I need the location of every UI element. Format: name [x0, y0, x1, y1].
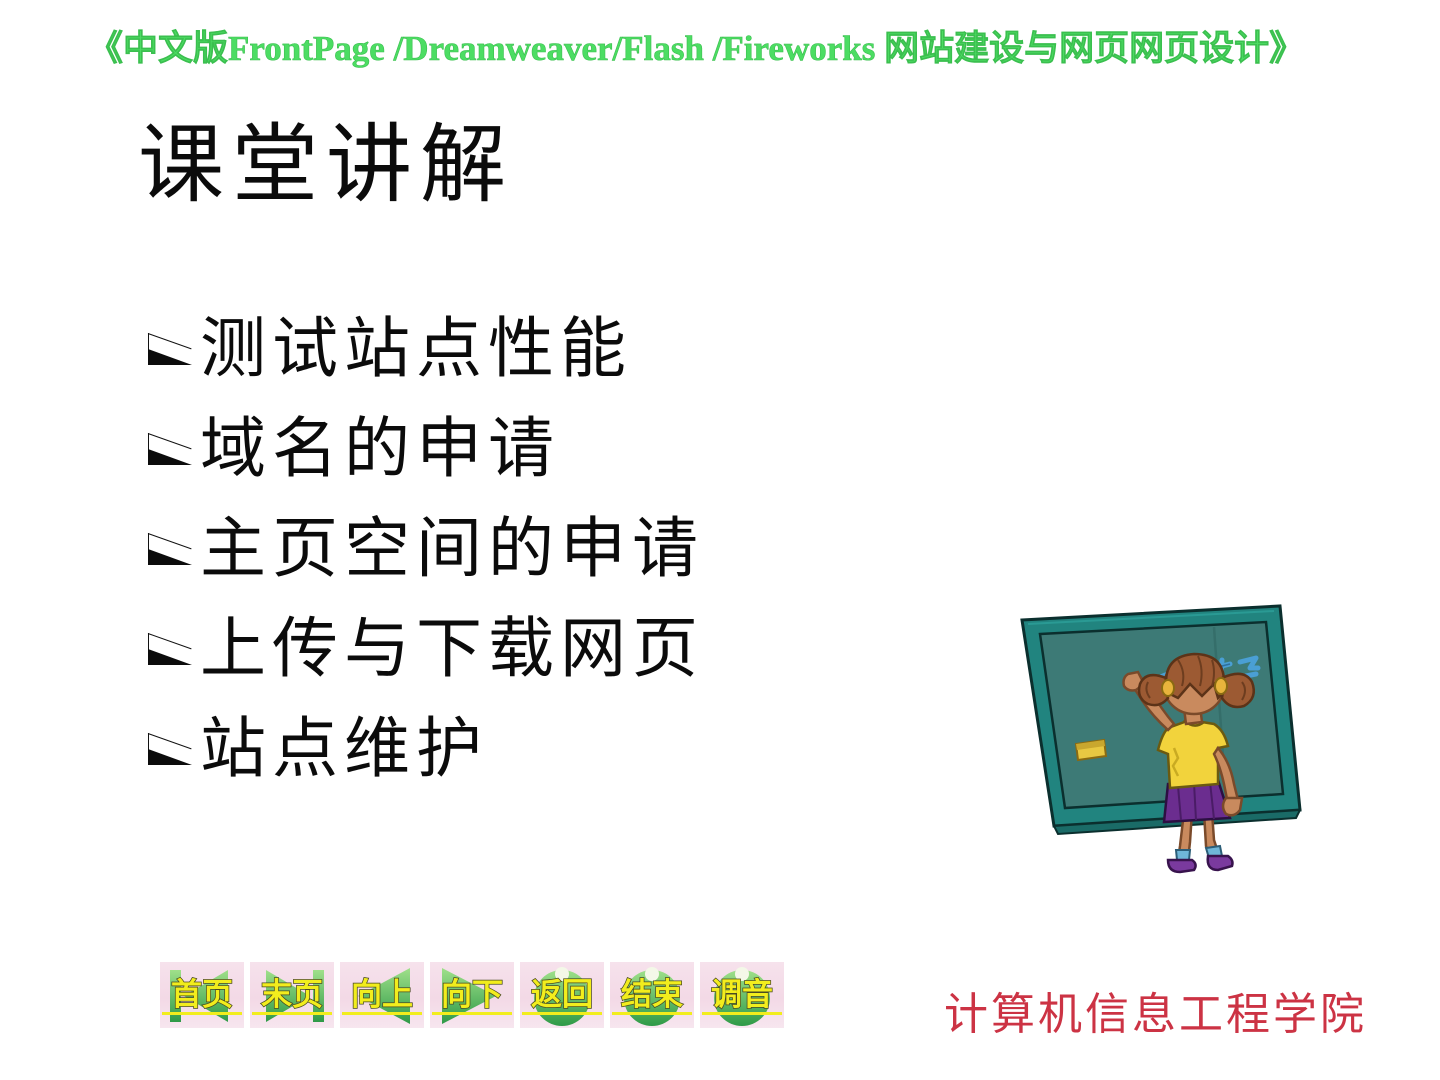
nav-underline [432, 1012, 512, 1015]
footer-navigation-bar[interactable]: 首页 末页 向上 向 [160, 962, 784, 1028]
bullet-list: 测试站点性能 域名的申请 主页空间的申请 上传与下载网页 站点维护 [146, 300, 906, 800]
nav-underline [702, 1012, 782, 1015]
list-item: 测试站点性能 [146, 300, 906, 400]
nav-button-label: 返回 [520, 978, 604, 1012]
nav-underline [252, 1012, 332, 1015]
nav-button-page-down[interactable]: 向下 [430, 962, 514, 1028]
institution-name: 计算机信息工程学院 [944, 988, 1367, 1042]
nav-button-label: 结束 [610, 978, 694, 1012]
list-item: 上传与下载网页 [146, 600, 906, 700]
nav-button-label: 向上 [340, 978, 424, 1012]
slide-header-title: 《中文版FrontPage /Dreamweaver/Flash /Firewo… [88, 26, 1358, 74]
arrow-bullet-icon [146, 419, 200, 481]
nav-button-sound[interactable]: 调音 [700, 962, 784, 1028]
nav-button-label: 末页 [250, 978, 334, 1012]
list-item-label: 上传与下载网页 [200, 611, 704, 689]
arrow-bullet-icon [146, 719, 200, 781]
list-item: 主页空间的申请 [146, 500, 906, 600]
list-item-label: 测试站点性能 [200, 311, 632, 389]
list-item-label: 站点维护 [200, 711, 488, 789]
arrow-bullet-icon [146, 619, 200, 681]
arrow-bullet-icon [146, 319, 200, 381]
nav-button-label: 向下 [430, 978, 514, 1012]
nav-underline [612, 1012, 692, 1015]
nav-button-last-page[interactable]: 末页 [250, 962, 334, 1028]
list-item: 站点维护 [146, 700, 906, 800]
nav-button-first-page[interactable]: 首页 [160, 962, 244, 1028]
list-item: 域名的申请 [146, 400, 906, 500]
nav-underline [522, 1012, 602, 1015]
nav-button-back[interactable]: 返回 [520, 962, 604, 1028]
nav-button-page-up[interactable]: 向上 [340, 962, 424, 1028]
arrow-bullet-icon [146, 519, 200, 581]
nav-button-end[interactable]: 结束 [610, 962, 694, 1028]
nav-underline [162, 1012, 242, 1015]
nav-underline [342, 1012, 422, 1015]
page-title: 课堂讲解 [138, 112, 514, 218]
nav-button-label: 调音 [700, 978, 784, 1012]
nav-button-label: 首页 [160, 978, 244, 1012]
list-item-label: 域名的申请 [200, 411, 560, 489]
girl-writing-on-blackboard-illustration [1018, 598, 1318, 893]
list-item-label: 主页空间的申请 [200, 511, 704, 589]
